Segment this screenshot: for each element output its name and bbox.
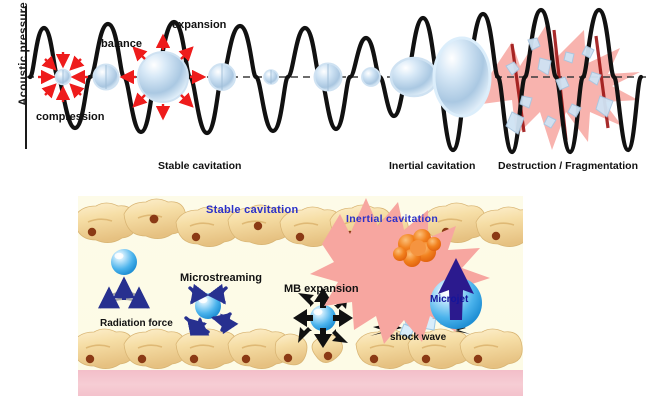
mechanism-label-radiation-force: Radiation force: [100, 318, 173, 329]
mechanism-label-microjet: Microjet: [430, 294, 468, 305]
bubble-compression-2: [264, 70, 278, 84]
microbubble-streaming: [195, 293, 221, 319]
bottom-title-inertial-cavitation: Inertial cavitation: [346, 213, 438, 225]
microstreaming-group: [186, 288, 230, 332]
annotation-compression: compression: [36, 111, 104, 123]
bubble-compression-1: [56, 70, 71, 85]
mechanism-label-microstreaming: Microstreaming: [180, 272, 262, 284]
phase-label-stable-cavitation: Stable cavitation: [158, 160, 241, 172]
phase-label-inertial-cavitation: Inertial cavitation: [389, 160, 475, 172]
phase-label-destruction-fragmentation: Destruction / Fragmentation: [498, 160, 638, 172]
bubble-expansion-1: [138, 52, 188, 102]
annotation-balance: balance: [101, 38, 142, 50]
bubble-inertial-2: [434, 38, 490, 116]
bottom-title-stable-cavitation: Stable cavitation: [206, 204, 299, 216]
radiation-force-group: [100, 249, 148, 308]
bubble-compression-3: [362, 68, 380, 86]
microbubble-expansion: [310, 305, 336, 331]
annotation-expansion: expansion: [172, 19, 226, 31]
cell-mechanism-panel: Stable cavitation Inertial cavitation Ra…: [78, 196, 523, 396]
bubble-balance-2: [209, 64, 235, 90]
bubble-balance-3: [315, 64, 342, 92]
figure-root: Acoustic pressure: [0, 0, 648, 405]
cell-row-top: [78, 199, 523, 253]
mechanism-label-mb-expansion: MB expansion: [284, 283, 359, 295]
radiation-arrows: [109, 280, 139, 306]
bubble-balance-1: [94, 65, 119, 90]
bubble-inertial-1: [391, 58, 437, 96]
acoustic-wave-svg: [0, 0, 648, 185]
acoustic-pressure-panel: Acoustic pressure: [0, 0, 648, 185]
microbubble-radiation: [111, 249, 137, 275]
mechanism-label-shock-wave: shock wave: [390, 332, 446, 343]
